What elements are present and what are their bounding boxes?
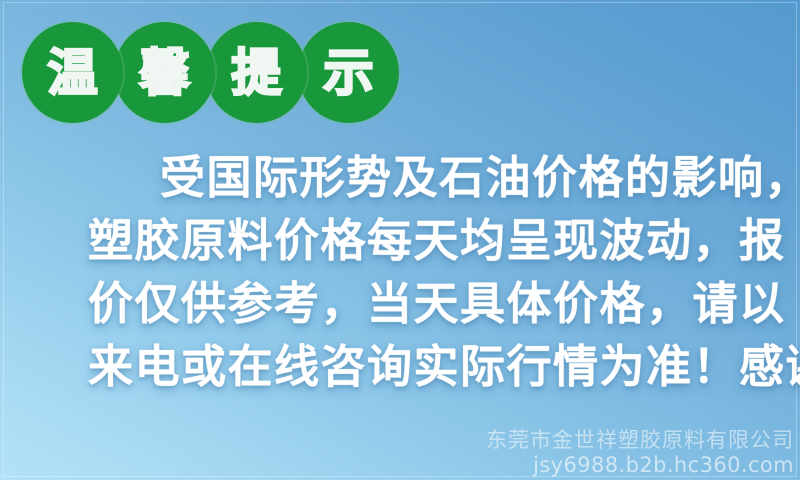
notice-line-1: 受国际形势及石油价格的影响， bbox=[88, 146, 788, 209]
badge-circle-2: 馨 bbox=[114, 22, 215, 123]
badge-char-wen: 温 bbox=[48, 48, 98, 98]
badge-circle-1: 温 bbox=[22, 22, 123, 123]
notice-line-2: 塑胶原料价格每天均呈现波动，报 bbox=[88, 209, 788, 272]
notice-message: 受国际形势及石油价格的影响， 塑胶原料价格每天均呈现波动，报 价仅供参考，当天具… bbox=[88, 146, 788, 398]
badge-circle-3: 提 bbox=[206, 22, 307, 123]
watermark-company-name: 东莞市金世祥塑胶原料有限公司 bbox=[486, 427, 794, 453]
badge-char-shi: 示 bbox=[324, 48, 374, 98]
watermark-url: jsy6988.b2b.hc360.com bbox=[486, 453, 794, 478]
notice-line-3: 价仅供参考，当天具体价格，请以 bbox=[88, 272, 788, 335]
badge-circle-4: 示 bbox=[298, 22, 399, 123]
badge-char-xin: 馨 bbox=[140, 48, 190, 98]
watermark: 东莞市金世祥塑胶原料有限公司 jsy6988.b2b.hc360.com bbox=[486, 427, 794, 478]
notice-line-4: 来电或在线咨询实际行情为准！感谢 bbox=[88, 335, 788, 398]
promo-banner: 温 馨 提 示 受国际形势及石油价格的影响， 塑胶原料价格每天均呈现波动，报 价… bbox=[0, 0, 800, 480]
badge-char-ti: 提 bbox=[232, 48, 282, 98]
